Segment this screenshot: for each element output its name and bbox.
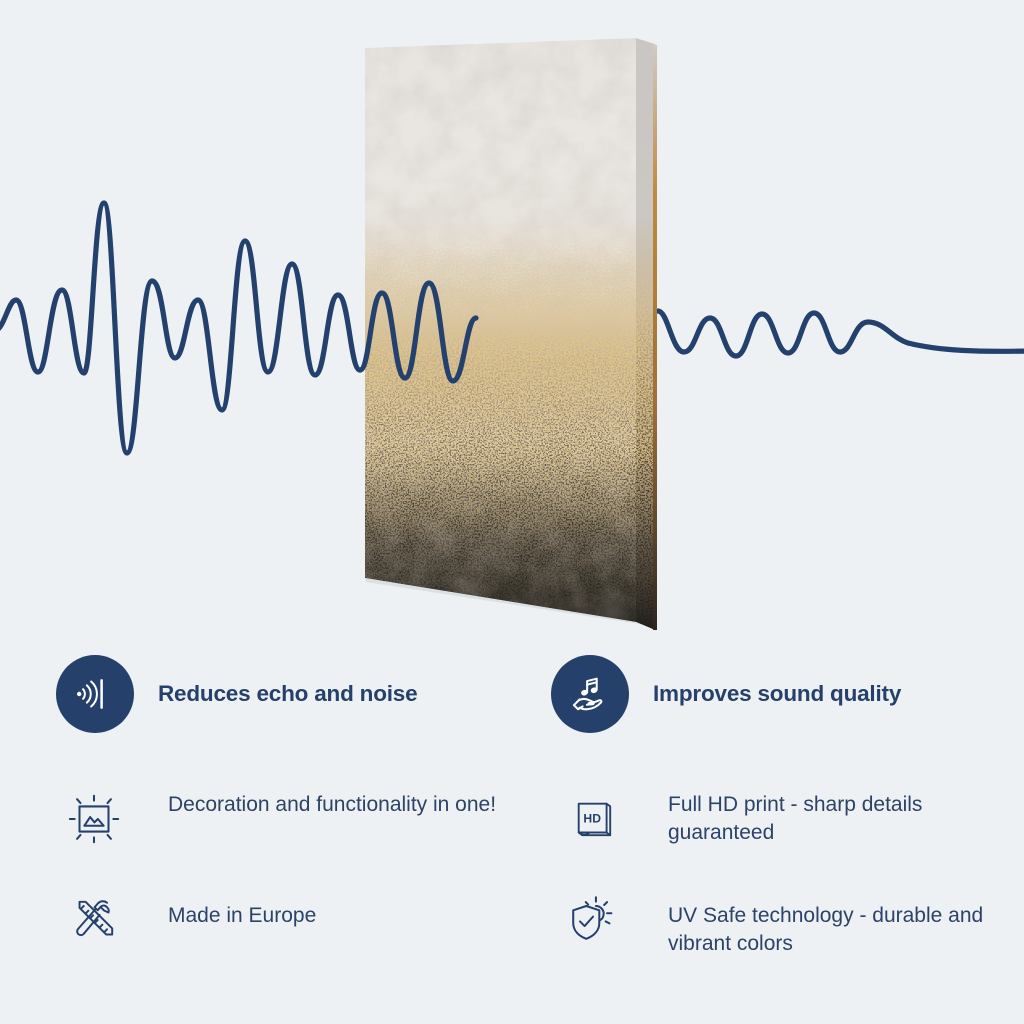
feature-uv-safe: UV Safe technology - durable and vibrant… xyxy=(562,888,1008,958)
badge-label: Reduces echo and noise xyxy=(158,680,417,708)
feature-label: UV Safe technology - durable and vibrant… xyxy=(668,888,1008,958)
feature-hd-print: HD Full HD print - sharp details guarant… xyxy=(562,787,1008,851)
svg-text:HD: HD xyxy=(583,812,601,826)
shield-sun-icon xyxy=(565,891,623,949)
feature-label: Made in Europe xyxy=(168,888,316,930)
badge-reduces-echo: Reduces echo and noise xyxy=(56,655,417,733)
badge-improves-sound: Improves sound quality xyxy=(551,655,901,733)
ruler-hammer-icon-wrap xyxy=(62,888,126,952)
feature-label: Decoration and functionality in one! xyxy=(168,787,496,819)
hero-section xyxy=(0,0,1024,640)
framed-picture-rays-icon-wrap xyxy=(62,787,126,851)
badge-label: Improves sound quality xyxy=(653,680,901,708)
ruler-hammer-icon xyxy=(66,892,122,948)
hand-music-note-icon xyxy=(567,671,613,717)
framed-picture-rays-icon xyxy=(65,790,123,848)
hd-print-icon: HD xyxy=(567,792,621,846)
feature-label: Full HD print - sharp details guaranteed xyxy=(668,787,1008,847)
sound-wave-foreground xyxy=(0,0,1024,640)
sound-waves-icon xyxy=(72,671,118,717)
hd-print-icon-wrap: HD xyxy=(562,787,626,851)
hand-music-note-badge-circle xyxy=(551,655,629,733)
feature-made-in-europe: Made in Europe xyxy=(62,888,316,952)
feature-decoration: Decoration and functionality in one! xyxy=(62,787,496,851)
sound-waves-badge-circle xyxy=(56,655,134,733)
shield-sun-icon-wrap xyxy=(562,888,626,952)
